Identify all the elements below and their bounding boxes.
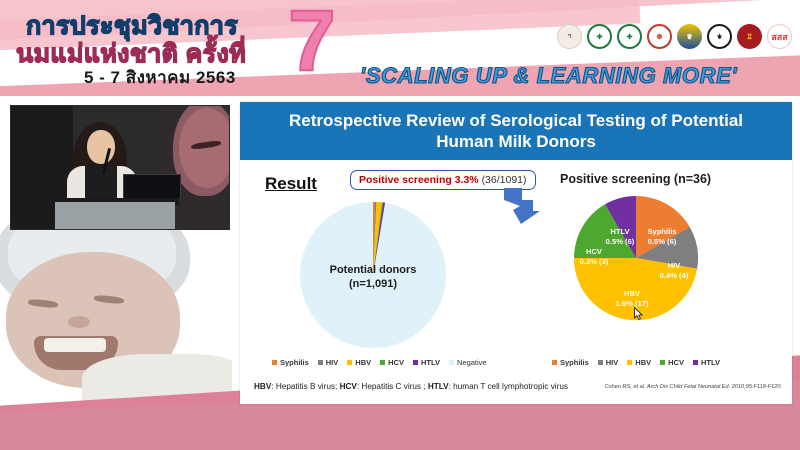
legend-item-hiv: HIV <box>318 358 339 367</box>
university-logo: ⚜ <box>707 24 732 49</box>
conference-banner: การประชุมวิชาการ นมแม่แห่งชาติ ครั้งที่ … <box>0 0 800 96</box>
mouse-cursor-icon <box>634 307 643 320</box>
legend-potential-donors: Syphilis HIV HBV HCV HTLV Negative <box>272 358 487 367</box>
footnote-hbv-text: : Hepatitis B virus; <box>271 382 339 391</box>
slice-label-hiv-line1: HIV <box>668 261 682 270</box>
footnote-hbv-abbr: HBV <box>254 382 271 391</box>
slice-label-hiv-line2: 0.4% (4) <box>660 271 689 280</box>
baby-teeth <box>44 338 106 352</box>
pie-center-label: Potential donors <box>300 264 446 276</box>
footnote-hcv-text: : Hepatitis C virus ; <box>357 382 428 391</box>
conference-edition-number: 7 <box>288 0 336 84</box>
legend-label-hiv: HIV <box>326 358 339 367</box>
footnote-htlv-abbr: HTLV <box>428 382 449 391</box>
thai-crest-logo: ☸ <box>647 24 672 49</box>
legend-positive-screening: Syphilis HIV HBV HCV HTLV <box>552 358 720 367</box>
slice-label-htlv-line1: HTLV <box>610 227 630 236</box>
legend-item-syphilis: Syphilis <box>272 358 309 367</box>
legend-swatch-hiv <box>598 360 603 365</box>
speaker-video[interactable] <box>10 105 230 230</box>
source-citation: Cohen RS, et al. Arch Dis Child Fetal Ne… <box>604 384 782 390</box>
ministry-health-logo: ✚ <box>587 24 612 49</box>
legend-item-hbv: HBV <box>627 358 651 367</box>
legend-label-syphilis: Syphilis <box>560 358 589 367</box>
legend-item-hcv: HCV <box>660 358 684 367</box>
legend-item-hbv: HBV <box>347 358 371 367</box>
laptop-screen <box>123 174 181 200</box>
slice-label-htlv-line2: 0.5% (6) <box>606 237 635 246</box>
slice-label-hbv-line2: 1.6% (17) <box>616 299 649 308</box>
callout-highlight: Positive screening 3.3% <box>359 174 479 186</box>
legend-item-htlv: HTLV <box>693 358 720 367</box>
positive-screening-pie: Syphilis 0.5% (6) HIV 0.4% (4) HBV 1.6% … <box>570 192 702 324</box>
sponsor-logo-row: ฯ ✚ ✚ ☸ ♕ ⚜ ♖ สสส <box>557 24 792 49</box>
legend-item-syphilis: Syphilis <box>552 358 589 367</box>
slice-label-hbv-line1: HBV <box>624 289 641 298</box>
legend-label-hcv: HCV <box>668 358 684 367</box>
baby-nose <box>68 316 90 328</box>
speaker-face <box>87 130 115 164</box>
legend-label-hbv: HBV <box>355 358 371 367</box>
screen: การประชุมวิชาการ นมแม่แห่งชาติ ครั้งที่ … <box>0 0 800 450</box>
legend-swatch-hbv <box>347 360 352 365</box>
legend-item-htlv: HTLV <box>413 358 440 367</box>
thaihealth-sss-logo: สสส <box>767 24 792 49</box>
legend-swatch-syphilis <box>272 360 277 365</box>
blue-arrow-icon <box>502 184 542 226</box>
legend-item-hcv: HCV <box>380 358 404 367</box>
royal-garuda-logo: ♕ <box>677 24 702 49</box>
legend-swatch-negative <box>449 360 454 365</box>
footnote-hcv-abbr: HCV <box>340 382 357 391</box>
slide-title: Retrospective Review of Serological Test… <box>240 102 792 160</box>
legend-label-syphilis: Syphilis <box>280 358 309 367</box>
pie-center-sublabel: (n=1,091) <box>300 278 446 290</box>
legend-swatch-syphilis <box>552 360 557 365</box>
result-heading: Result <box>265 174 317 194</box>
legend-swatch-hiv <box>318 360 323 365</box>
royal-seal-logo: ฯ <box>557 24 582 49</box>
legend-item-negative: Negative <box>449 358 487 367</box>
slice-label-hcv-line2: 0.3% (3) <box>580 257 609 266</box>
legend-label-hcv: HCV <box>388 358 404 367</box>
red-crest-logo: ♖ <box>737 24 762 49</box>
conference-date: 5 - 7 สิงหาคม 2563 <box>84 64 236 91</box>
legend-swatch-htlv <box>413 360 418 365</box>
presentation-slide: Retrospective Review of Serological Test… <box>240 102 792 404</box>
slice-label-hcv-line1: HCV <box>586 247 603 256</box>
health-dept-logo: ✚ <box>617 24 642 49</box>
positive-screening-title: Positive screening (n=36) <box>560 172 711 186</box>
conference-tagline: 'SCALING UP & LEARNING MORE' <box>360 63 737 89</box>
slice-label-syphilis-line2: 0.5% (6) <box>648 237 677 246</box>
legend-item-hiv: HIV <box>598 358 619 367</box>
legend-label-htlv: HTLV <box>421 358 440 367</box>
legend-label-hbv: HBV <box>635 358 651 367</box>
slice-label-syphilis-line1: Syphilis <box>647 227 676 236</box>
legend-swatch-hbv <box>627 360 632 365</box>
legend-label-negative: Negative <box>457 358 487 367</box>
footnote-htlv-text: : human T cell lymphotropic virus <box>449 382 568 391</box>
legend-swatch-hcv <box>380 360 385 365</box>
podium <box>55 202 175 230</box>
legend-label-hiv: HIV <box>606 358 619 367</box>
abbreviation-footnote: HBV: Hepatitis B virus; HCV: Hepatitis C… <box>254 382 568 391</box>
legend-swatch-htlv <box>693 360 698 365</box>
potential-donors-pie: Potential donors (n=1,091) <box>300 202 446 348</box>
legend-label-htlv: HTLV <box>701 358 720 367</box>
legend-swatch-hcv <box>660 360 665 365</box>
